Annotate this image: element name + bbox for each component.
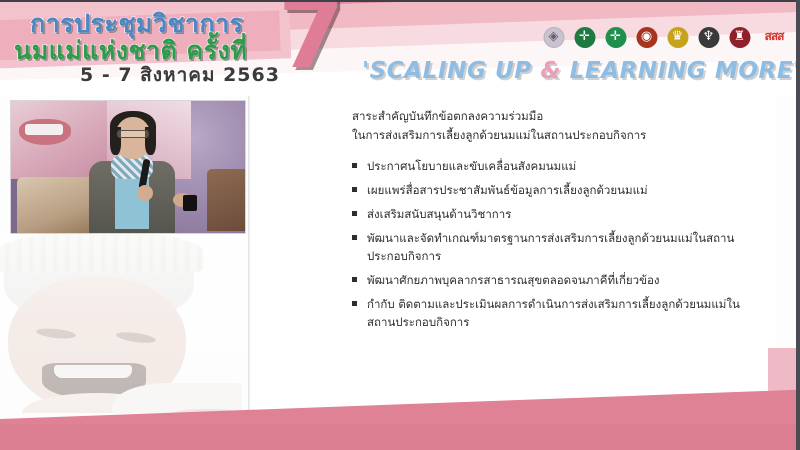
bottom-pink-band-2 bbox=[0, 424, 800, 450]
speaker-hand-left bbox=[137, 185, 153, 201]
logo-ministry-public-health: ✛ bbox=[572, 26, 597, 54]
list-item: พัฒนาศักยภาพบุคลากรสาธารณสุขตลอดจนภาคีที… bbox=[352, 271, 752, 289]
lead-paragraph: สาระสำคัญบันทึกข้อตกลงความร่วมมือ ในการส… bbox=[352, 107, 752, 145]
lead-line-2: ในการส่งเสริมการเลี้ยงลูกด้วยนมแม่ในสถาน… bbox=[352, 126, 752, 145]
watermark-fade-overlay bbox=[0, 233, 260, 418]
logo-university: ♆ bbox=[696, 26, 721, 54]
slide-right-border bbox=[796, 0, 800, 450]
logo-garuda-crest: ♜ bbox=[727, 26, 752, 54]
backdrop-poster-teeth bbox=[25, 124, 63, 135]
logo-royal-emblem: ◈ bbox=[541, 26, 566, 54]
logo-royal-crest: ♛ bbox=[665, 26, 690, 54]
remote-clicker bbox=[183, 195, 197, 211]
slide-top-border bbox=[0, 0, 800, 2]
logo-thai-red-cross-glyph: ◉ bbox=[641, 26, 652, 47]
conference-tagline: 'SCALING UP & LEARNING MORE' bbox=[362, 58, 800, 84]
list-item: ส่งเสริมสนับสนุนด้านวิชาการ bbox=[352, 205, 752, 223]
logo-health-dept-glyph: ✛ bbox=[610, 26, 621, 47]
presentation-slide: 7 การประชุมวิชาการ นมแม่แห่งชาติ ครั้งที… bbox=[0, 0, 800, 450]
speaker-glasses bbox=[117, 130, 149, 138]
speaker-video-thumbnail[interactable] bbox=[10, 100, 246, 234]
logo-health-dept: ✛ bbox=[603, 26, 628, 54]
bullet-list: ประกาศนโยบายและขับเคลื่อนสังคมนมแม่ เผยแ… bbox=[352, 157, 752, 331]
edition-number: 7 bbox=[278, 0, 345, 82]
lead-line-1: สาระสำคัญบันทึกข้อตกลงความร่วมมือ bbox=[352, 107, 752, 126]
slide-body-text: สาระสำคัญบันทึกข้อตกลงความร่วมมือ ในการส… bbox=[352, 107, 752, 337]
tagline-part-open: 'SCALING UP bbox=[362, 58, 540, 84]
panel-divider bbox=[248, 96, 249, 414]
tagline-part-close: LEARNING MORE' bbox=[561, 58, 800, 84]
list-item: พัฒนาและจัดทำเกณฑ์มาตรฐานการส่งเสริมการเ… bbox=[352, 229, 752, 265]
partner-logo-strip: ◈ ✛ ✛ ◉ ♛ ♆ ♜ สสส bbox=[541, 26, 790, 54]
list-item: ประกาศนโยบายและขับเคลื่อนสังคมนมแม่ bbox=[352, 157, 752, 175]
list-item: เผยแพร่สื่อสารประชาสัมพันธ์ข้อมูลการเลี้… bbox=[352, 181, 752, 199]
logo-garuda-crest-glyph: ♜ bbox=[734, 26, 746, 47]
list-item: กำกับ ติดตามและประเมินผลการดำเนินการส่งเ… bbox=[352, 295, 752, 331]
chair-right bbox=[207, 169, 246, 231]
logo-royal-emblem-glyph: ◈ bbox=[549, 26, 559, 47]
logo-sss-thaihealth-glyph: สสส bbox=[765, 26, 784, 47]
logo-university-glyph: ♆ bbox=[703, 26, 715, 47]
logo-ministry-public-health-glyph: ✛ bbox=[579, 26, 590, 47]
tagline-ampersand: & bbox=[540, 58, 561, 84]
logo-thai-red-cross: ◉ bbox=[634, 26, 659, 54]
logo-sss-thaihealth: สสส bbox=[758, 26, 790, 54]
logo-royal-crest-glyph: ♛ bbox=[672, 26, 684, 47]
conference-date: 5 - 7 สิงหาคม 2563 bbox=[80, 60, 280, 90]
